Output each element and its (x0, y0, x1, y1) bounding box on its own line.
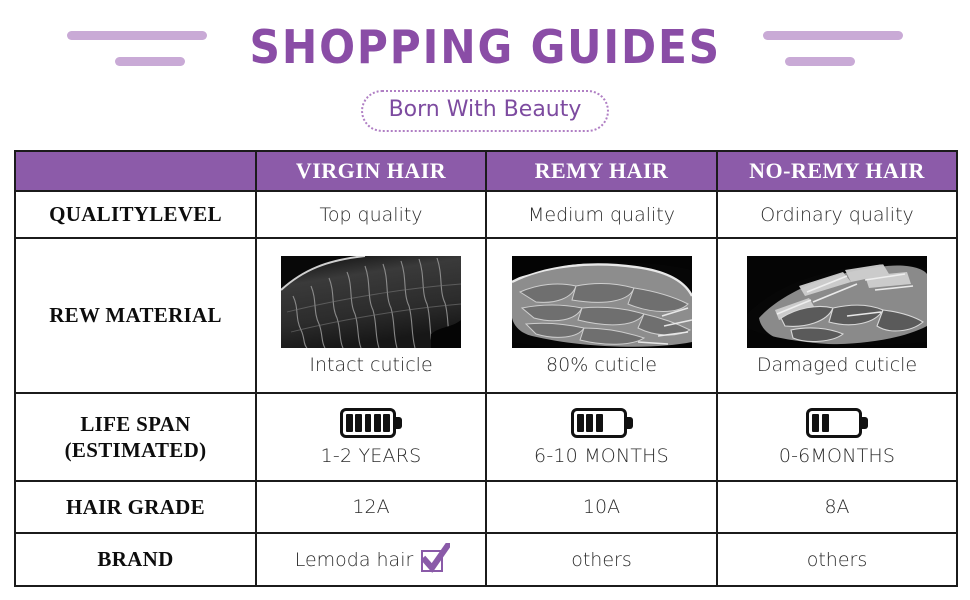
table-row: BRAND Lemoda hair others others (15, 533, 957, 586)
title-row: SHOPPING GUIDES (0, 24, 970, 70)
deco-bar-short (785, 57, 855, 66)
cell-material-virgin: Intact cuticle (256, 238, 486, 393)
row-label-life-span: LIFE SPAN (ESTIMATED) (15, 393, 256, 481)
cell-grade-virgin: 12A (256, 481, 486, 533)
battery-icon (571, 408, 633, 438)
table-body: QUALITYLEVEL Top quality Medium quality … (15, 191, 957, 586)
cell-lifespan-virgin: 1-2 YEARS (256, 393, 486, 481)
life-span-label-line1: LIFE SPAN (16, 411, 255, 437)
hair-cuticle-intact-micrograph (281, 256, 461, 348)
hair-cuticle-80-micrograph (512, 256, 692, 348)
page-title: SHOPPING GUIDES (236, 24, 733, 70)
cell-quality-noremy: Ordinary quality (717, 191, 957, 238)
row-label-brand: BRAND (15, 533, 256, 586)
cell-quality-virgin: Top quality (256, 191, 486, 238)
cell-material-noremy: Damaged cuticle (717, 238, 957, 393)
lifespan-value-remy: 6-10 MONTHS (534, 445, 669, 467)
column-header-remy-hair: REMY HAIR (486, 151, 717, 191)
header-decoration-right (755, 25, 955, 69)
page-header: SHOPPING GUIDES Born With Beauty (0, 0, 970, 150)
cell-grade-remy: 10A (486, 481, 717, 533)
column-header-virgin-hair: VIRGIN HAIR (256, 151, 486, 191)
caption-damaged-cuticle: Damaged cuticle (757, 354, 917, 376)
column-header-blank (15, 151, 256, 191)
cell-brand-noremy: others (717, 533, 957, 586)
comparison-table-wrap: VIRGIN HAIR REMY HAIR NO-REMY HAIR QUALI… (14, 150, 956, 585)
caption-80-cuticle: 80% cuticle (546, 354, 657, 376)
table-row: QUALITYLEVEL Top quality Medium quality … (15, 191, 957, 238)
table-header: VIRGIN HAIR REMY HAIR NO-REMY HAIR (15, 151, 957, 191)
life-span-label-line2: (ESTIMATED) (16, 437, 255, 463)
caption-intact-cuticle: Intact cuticle (309, 354, 432, 376)
lifespan-value-virgin: 1-2 YEARS (321, 445, 422, 467)
battery-icon (340, 408, 402, 438)
deco-bar-long (763, 31, 903, 40)
deco-bar-long (67, 31, 207, 40)
subtitle-wrap: Born With Beauty (0, 90, 970, 132)
row-label-hair-grade: HAIR GRADE (15, 481, 256, 533)
column-header-no-remy-hair: NO-REMY HAIR (717, 151, 957, 191)
lifespan-value-noremy: 0-6MONTHS (779, 445, 895, 467)
cell-quality-remy: Medium quality (486, 191, 717, 238)
cell-lifespan-remy: 6-10 MONTHS (486, 393, 717, 481)
brand-name-lemoda: Lemoda hair (295, 549, 414, 571)
table-header-row: VIRGIN HAIR REMY HAIR NO-REMY HAIR (15, 151, 957, 191)
battery-icon (806, 408, 868, 438)
checkmark-icon (421, 547, 447, 573)
cell-brand-virgin: Lemoda hair (256, 533, 486, 586)
table-row: REW MATERIAL (15, 238, 957, 393)
cell-lifespan-noremy: 0-6MONTHS (717, 393, 957, 481)
page-subtitle: Born With Beauty (361, 90, 610, 132)
hair-cuticle-damaged-micrograph (747, 256, 927, 348)
table-row: LIFE SPAN (ESTIMATED) 1-2 YEARS (15, 393, 957, 481)
table-row: HAIR GRADE 12A 10A 8A (15, 481, 957, 533)
header-decoration-left (15, 25, 215, 69)
cell-grade-noremy: 8A (717, 481, 957, 533)
deco-bar-short (115, 57, 185, 66)
cell-brand-remy: others (486, 533, 717, 586)
cell-material-remy: 80% cuticle (486, 238, 717, 393)
row-label-rew-material: REW MATERIAL (15, 238, 256, 393)
row-label-quality-level: QUALITYLEVEL (15, 191, 256, 238)
comparison-table: VIRGIN HAIR REMY HAIR NO-REMY HAIR QUALI… (14, 150, 958, 587)
